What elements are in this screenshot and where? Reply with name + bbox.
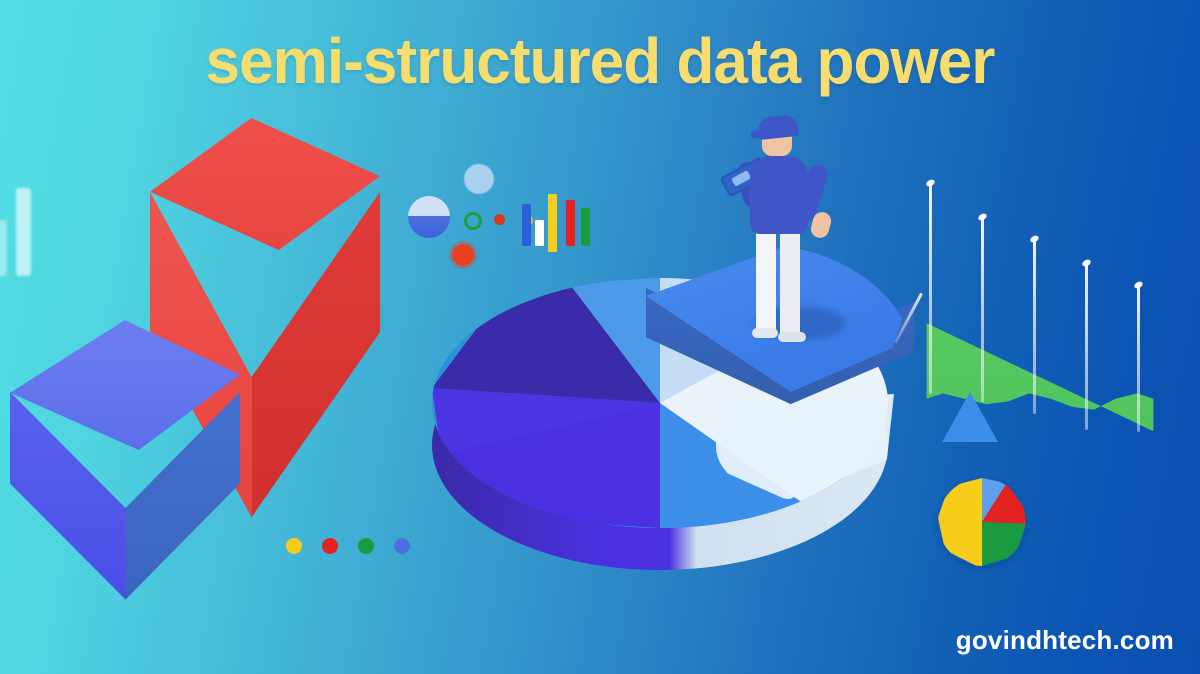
legend-dot-yellow [286,538,302,554]
axis-marker-1 [929,182,932,394]
site-watermark: govindhtech.com [956,625,1174,656]
mini-bar-5 [581,208,590,246]
axis-marker-5 [1137,284,1140,432]
axis-marker-dot-4 [1081,258,1092,268]
blue-triangle-icon [942,392,998,442]
analyst-figure [726,108,846,348]
poster-canvas: semi-structured data power govindhtech.c… [0,0,1200,674]
legend-dot-green [358,538,374,554]
bar-3d-blue [10,320,240,600]
person-left-shoe [752,328,778,338]
person-cap [757,114,799,140]
person-torso [750,156,808,234]
faint-bar-decoration [0,186,54,276]
axis-marker-4 [1085,262,1088,430]
red-small-dot-icon [494,214,505,225]
red-gear-dot-icon [452,244,474,266]
mini-pie-chart [938,478,1026,566]
axis-marker-dot-2 [977,212,988,222]
axis-marker-dot-5 [1133,280,1144,290]
faint-bar-2 [16,188,31,276]
two-tone-sphere-icon [408,196,450,238]
legend-dot-row [286,538,416,556]
green-ring-dot-icon [464,212,482,230]
person-right-leg [780,228,800,338]
red-bar-top-face [150,118,380,250]
bubble-circle-icon [464,164,494,194]
person-right-shoe [778,332,806,342]
axis-marker-3 [1033,238,1036,414]
mini-bar-cluster [520,188,600,246]
mini-bar-1 [522,204,531,246]
legend-dot-blue [394,538,410,554]
faint-bar-1 [0,220,7,276]
legend-dot-red [322,538,338,554]
page-title: semi-structured data power [18,24,1182,98]
axis-marker-dot-3 [1029,234,1040,244]
axis-marker-2 [981,216,984,402]
mini-bar-3 [548,194,557,252]
mini-bar-2 [535,220,544,246]
axis-marker-dot-1 [925,178,936,188]
person-left-leg [756,228,776,334]
mini-bar-4 [566,200,575,246]
